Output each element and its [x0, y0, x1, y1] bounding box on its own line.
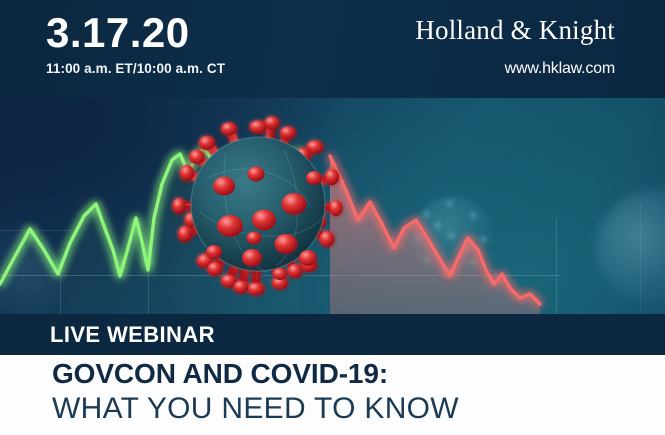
webinar-poster: 3.17.20 11:00 a.m. ET/10:00 a.m. CT Holl…	[0, 0, 665, 435]
firm-logo-wordmark: Holland & Knight	[415, 14, 615, 46]
webinar-title-line-1: GOVCON AND COVID-19:	[52, 357, 388, 391]
firm-website-url[interactable]: www.hklaw.com	[415, 58, 615, 80]
chart-area-down	[330, 156, 540, 314]
date-block: 3.17.20 11:00 a.m. ET/10:00 a.m. CT	[46, 8, 225, 78]
coronavirus-particle-icon	[168, 108, 348, 300]
webinar-title-line-2: WHAT YOU NEED TO KNOW	[52, 391, 459, 427]
event-date: 3.17.20	[46, 8, 225, 58]
title-area: GOVCON AND COVID-19: WHAT YOU NEED TO KN…	[0, 355, 665, 435]
live-webinar-label: LIVE WEBINAR	[50, 322, 215, 348]
brand-block: Holland & Knight www.hklaw.com	[415, 14, 615, 80]
live-webinar-band: LIVE WEBINAR	[0, 314, 665, 355]
hero-image	[0, 98, 665, 314]
event-time: 11:00 a.m. ET/10:00 a.m. CT	[46, 60, 225, 78]
header-band: 3.17.20 11:00 a.m. ET/10:00 a.m. CT Holl…	[0, 0, 665, 98]
